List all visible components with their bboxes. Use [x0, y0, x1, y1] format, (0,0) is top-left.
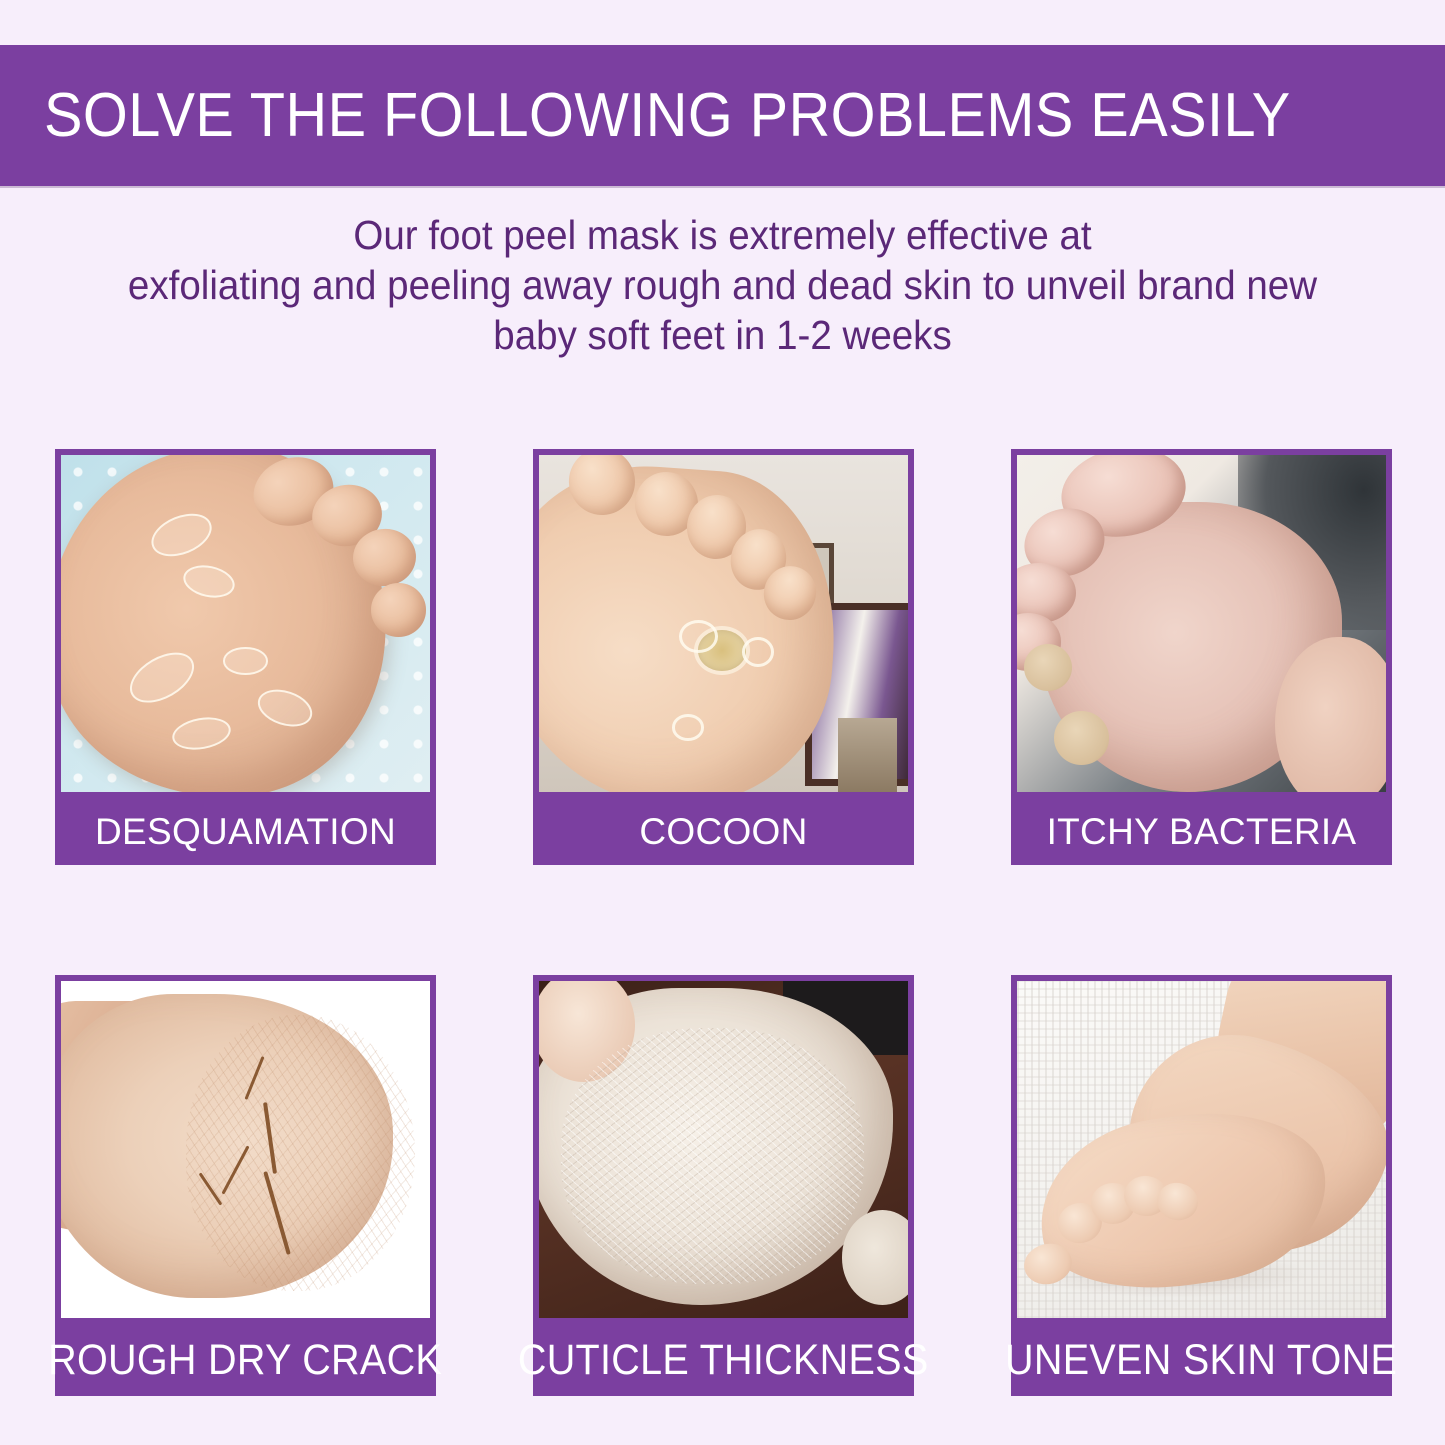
card-photo-frame	[533, 449, 914, 798]
card-caption-bar: CUTICLE THICKNESS	[533, 1324, 914, 1396]
card-caption-label: COCOON	[639, 813, 807, 850]
header-banner: SOLVE THE FOLLOWING PROBLEMS EASILY	[0, 45, 1445, 186]
toe-shape	[371, 583, 426, 637]
subtitle-line-1: Our foot peel mask is extremely effectiv…	[43, 210, 1401, 260]
page-title: SOLVE THE FOLLOWING PROBLEMS EASILY	[44, 85, 1291, 147]
subtitle-block: Our foot peel mask is extremely effectiv…	[0, 210, 1445, 360]
problem-card: COCOON	[533, 449, 914, 865]
rough-skin-texture	[186, 1015, 415, 1291]
toenail-shape	[1024, 644, 1072, 691]
dry-skin-texture	[561, 1028, 864, 1284]
card-photo-frame	[1011, 449, 1392, 798]
card-caption-bar: DESQUAMATION	[55, 798, 436, 865]
card-photo-frame	[55, 449, 436, 798]
card-photo-frame	[533, 975, 914, 1324]
problem-card: ITCHY BACTERIA	[1011, 449, 1392, 865]
card-photo-frame	[1011, 975, 1392, 1324]
skin-ring	[672, 714, 704, 740]
toenail-shape	[1054, 711, 1109, 765]
foot-sole-peeling-skin-photo	[61, 455, 430, 792]
card-caption-bar: UNEVEN SKIN TONE	[1011, 1324, 1392, 1396]
card-caption-label: UNEVEN SKIN TONE	[1005, 1342, 1397, 1379]
foot-toes-closeup-photo	[1017, 455, 1386, 792]
two-feet-on-towel-photo	[1017, 981, 1386, 1318]
problem-card-grid: DESQUAMATION COCOON	[55, 449, 1395, 1396]
card-caption-bar: ROUGH DRY CRACK	[55, 1324, 436, 1396]
card-caption-label: ITCHY BACTERIA	[1047, 813, 1357, 850]
skin-flake	[223, 647, 268, 675]
subtitle-line-2: exfoliating and peeling away rough and d…	[43, 260, 1401, 310]
card-caption-label: ROUGH DRY CRACK	[49, 1342, 443, 1379]
card-caption-bar: ITCHY BACTERIA	[1011, 798, 1392, 865]
chair-shape	[838, 718, 897, 792]
card-caption-label: DESQUAMATION	[95, 813, 396, 850]
card-caption-label: CUTICLE THICKNESS	[518, 1342, 929, 1379]
problem-card: CUTICLE THICKNESS	[533, 975, 914, 1396]
problem-card: UNEVEN SKIN TONE	[1011, 975, 1392, 1396]
foot-sole-callus-photo	[539, 455, 908, 792]
cracked-heel-photo	[61, 981, 430, 1318]
skin-ring	[742, 637, 774, 667]
dry-thick-heel-photo	[539, 981, 908, 1318]
card-photo-frame	[55, 975, 436, 1324]
subtitle-line-3: baby soft feet in 1-2 weeks	[43, 310, 1401, 360]
problem-card: ROUGH DRY CRACK	[55, 975, 436, 1396]
problem-card: DESQUAMATION	[55, 449, 436, 865]
card-caption-bar: COCOON	[533, 798, 914, 865]
